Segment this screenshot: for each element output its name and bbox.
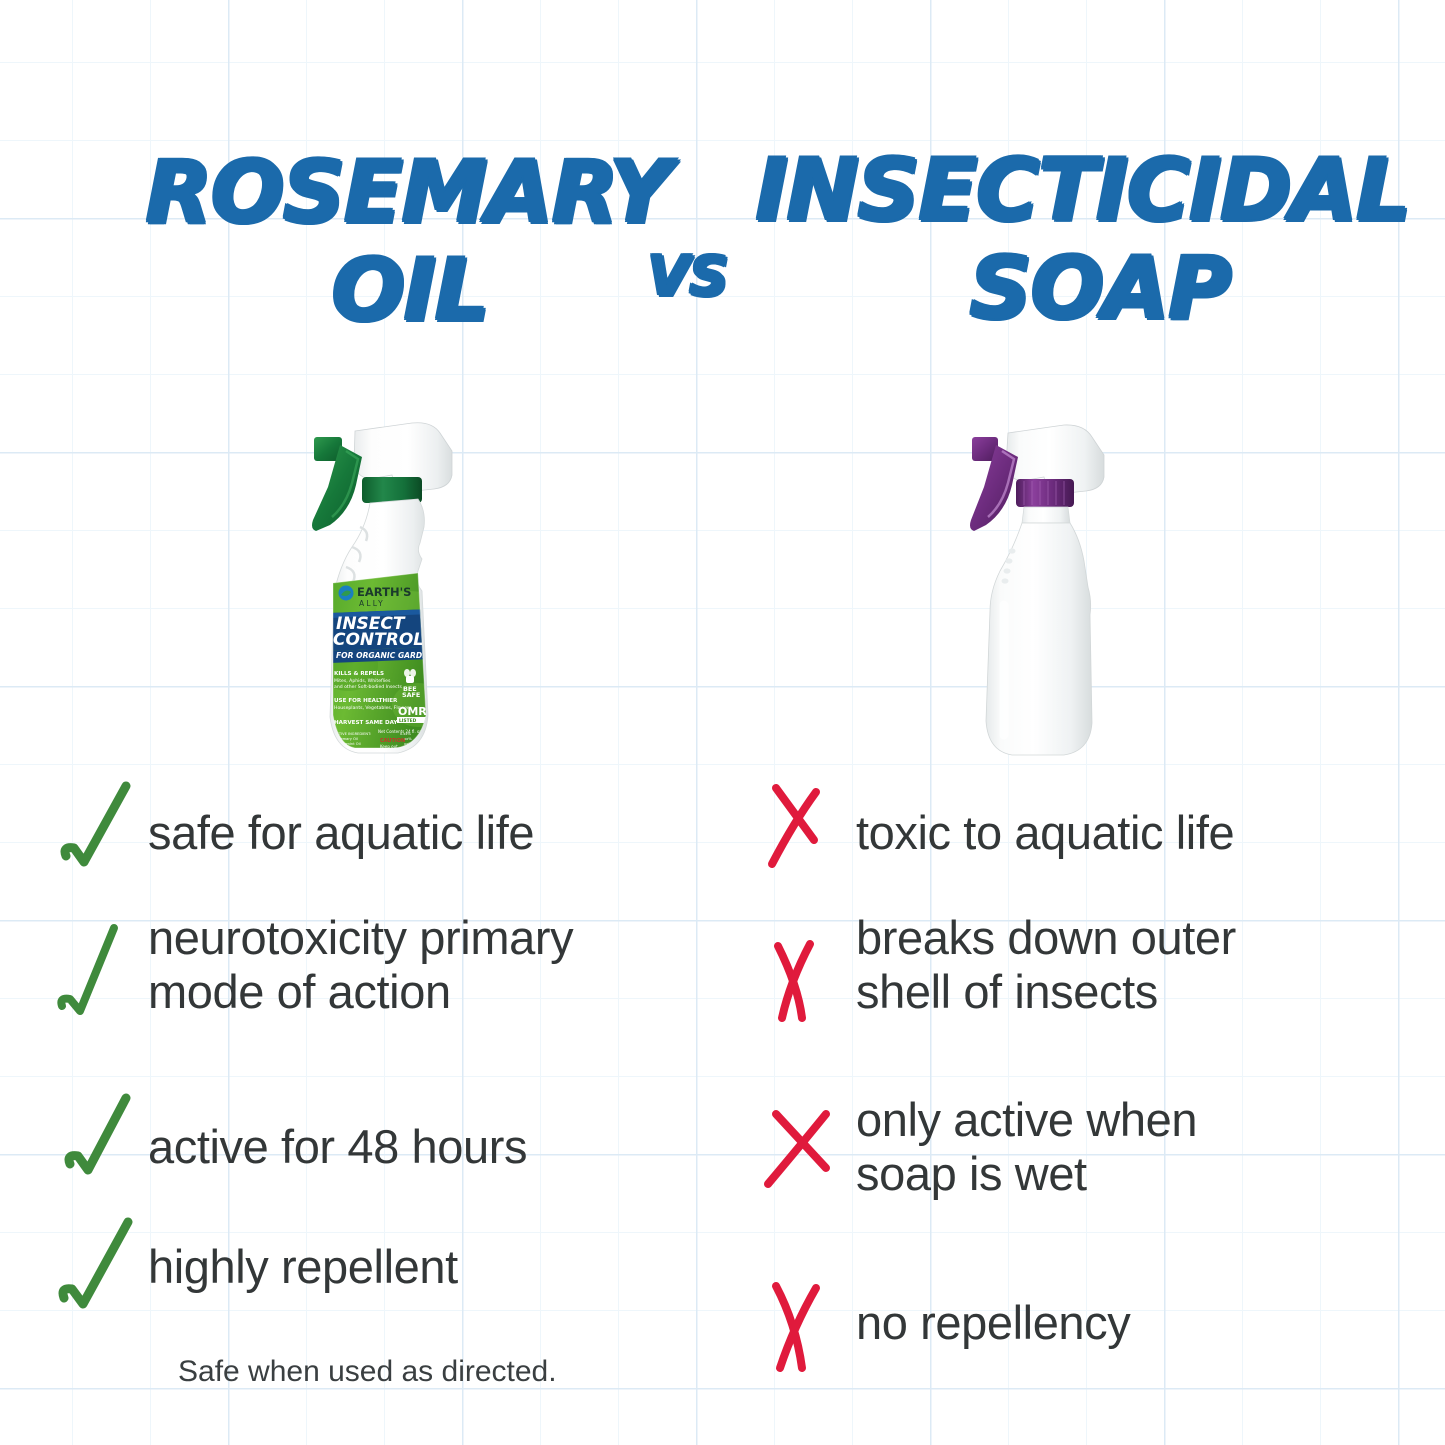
label-claim1-head: KILLS & REPELS	[334, 671, 384, 677]
list-item: no repellency	[760, 1268, 1130, 1378]
footnote: Safe when used as directed.	[178, 1355, 557, 1389]
earths-ally-bottle-svg: EARTH'S ALLY INSECT CONTROL FOR ORGANIC …	[300, 415, 530, 775]
cross-icon	[760, 910, 856, 1020]
plain-white-bottle-svg	[960, 415, 1140, 775]
list-item: active for 48 hours	[52, 1092, 527, 1202]
bottle-collar	[1016, 479, 1074, 507]
list-item: toxic to aquatic life	[760, 778, 1234, 888]
list-item-label: breaks down outer shell of insects	[856, 911, 1236, 1018]
heading-left-line1: ROSEMARY	[146, 150, 671, 236]
list-item: highly repellent	[52, 1212, 458, 1322]
heading-left-line2: OIL	[332, 248, 489, 334]
svg-text:and other Soft-bodied Insects: and other Soft-bodied Insects	[334, 684, 402, 690]
product-image-rosemary-oil: EARTH'S ALLY INSECT CONTROL FOR ORGANIC …	[300, 415, 530, 775]
label-tagline: FOR ORGANIC GARDENING	[336, 651, 449, 660]
list-item-label: active for 48 hours	[148, 1120, 527, 1174]
label-claim3-head: HARVEST SAME DAY	[334, 720, 398, 726]
list-item-label: only active when soap is wet	[856, 1093, 1197, 1200]
label-brand-sub: ALLY	[359, 599, 385, 608]
heading-right-line2: SOAP	[970, 246, 1231, 332]
cross-icon	[760, 1268, 856, 1378]
list-item-label: no repellency	[856, 1296, 1130, 1350]
product-label: EARTH'S ALLY INSECT CONTROL FOR ORGANIC …	[318, 565, 449, 755]
svg-text:SAFE: SAFE	[402, 691, 420, 699]
label-brand: EARTH'S	[357, 585, 411, 599]
svg-text:Net Contents 24 fl. oz.: Net Contents 24 fl. oz.	[378, 729, 423, 734]
cross-icon	[760, 1092, 856, 1202]
label-claim1-body: Mites, Aphids, Whiteflies	[334, 678, 391, 684]
bottle-neck	[1022, 507, 1070, 523]
check-icon	[52, 778, 148, 888]
heading-versus: VS	[648, 250, 729, 304]
heading-right-line1: INSECTICIDAL	[756, 148, 1410, 234]
infographic-page: ROSEMARY OIL VS INSECTICIDAL SOAP	[0, 0, 1445, 1445]
label-product-line2: CONTROL	[333, 630, 424, 650]
svg-text:LISTED: LISTED	[399, 718, 417, 724]
check-icon	[52, 1212, 148, 1322]
svg-text:xx%: xx%	[404, 737, 412, 741]
list-item-label: highly repellent	[148, 1240, 458, 1294]
list-item: breaks down outer shell of insects	[760, 910, 1236, 1020]
cross-icon	[760, 778, 856, 888]
check-icon	[52, 1092, 148, 1202]
label-claim2-head: USE FOR HEALTHIER	[334, 698, 398, 704]
check-icon	[52, 910, 148, 1020]
list-item: neurotoxicity primary mode of action	[52, 910, 573, 1020]
product-image-insecticidal-soap	[960, 415, 1140, 775]
list-item-label: toxic to aquatic life	[856, 806, 1234, 860]
list-item: safe for aquatic life	[52, 778, 534, 888]
list-item-label: neurotoxicity primary mode of action	[148, 911, 573, 1018]
list-item-label: safe for aquatic life	[148, 806, 534, 860]
list-item: only active when soap is wet	[760, 1092, 1197, 1202]
